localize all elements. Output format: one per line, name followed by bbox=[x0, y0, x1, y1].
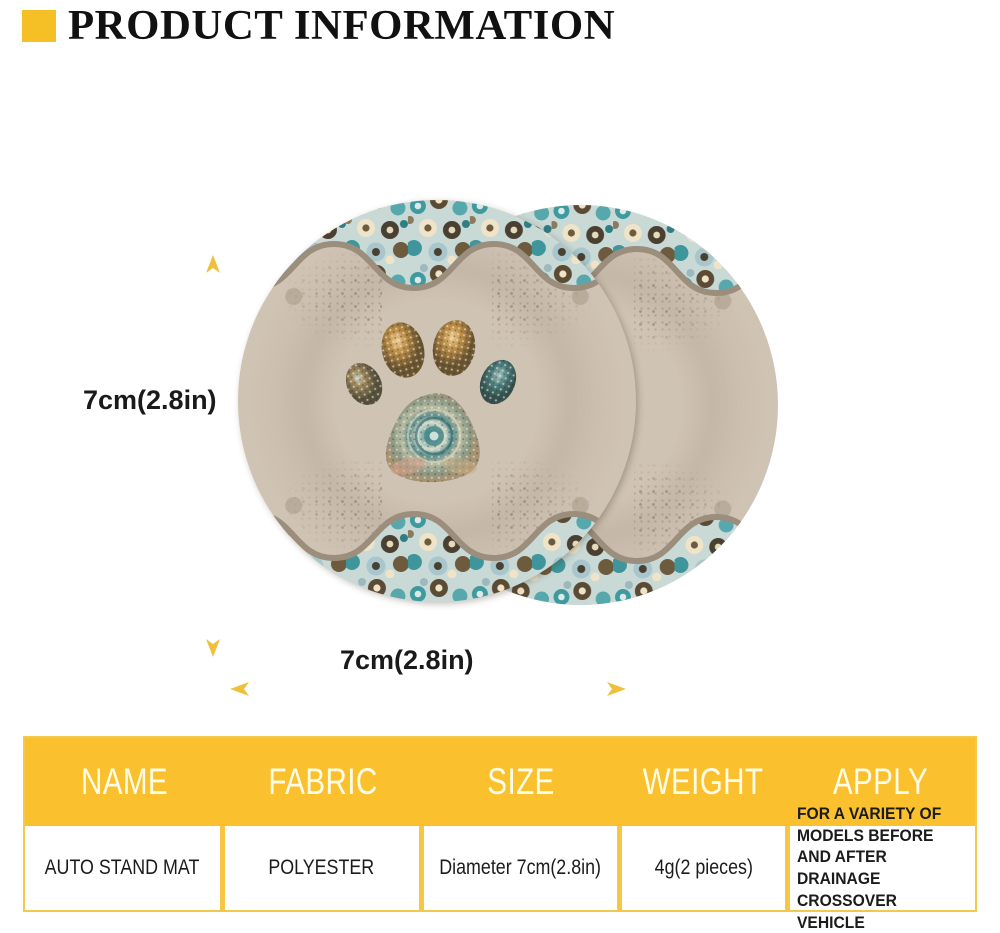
column-header-apply: APPLY bbox=[805, 761, 956, 803]
title-bullet-icon bbox=[22, 10, 56, 42]
height-dimension-label: 7cm(2.8in) bbox=[83, 385, 217, 416]
width-dimension-label: 7cm(2.8in) bbox=[340, 645, 474, 676]
column-header-fabric: FABRIC bbox=[244, 761, 402, 803]
column-header-size: SIZE bbox=[442, 761, 600, 803]
column-header-weight: WEIGHT bbox=[637, 761, 770, 803]
width-dimension-arrow bbox=[230, 677, 626, 701]
spec-table-body-row: AUTO STAND MAT POLYESTER Diameter 7cm(2.… bbox=[25, 826, 975, 910]
ornament-band-top bbox=[238, 200, 636, 298]
cell-apply-text: FOR A VARIETY OF MODELS BEFORE AND AFTER… bbox=[797, 803, 961, 933]
page-title: PRODUCT INFORMATION bbox=[68, 5, 615, 47]
cell-name: AUTO STAND MAT bbox=[25, 826, 220, 910]
cell-apply: FOR A VARIETY OF MODELS BEFORE AND AFTER… bbox=[790, 826, 975, 910]
height-dimension-arrow bbox=[205, 255, 221, 657]
cell-weight: 4g(2 pieces) bbox=[622, 826, 785, 910]
cell-fabric: POLYESTER bbox=[225, 826, 419, 910]
page-header: PRODUCT INFORMATION bbox=[0, 0, 1000, 52]
cell-fabric-text: POLYESTER bbox=[269, 855, 375, 881]
cell-name-text: AUTO STAND MAT bbox=[45, 855, 200, 881]
cell-size-text: Diameter 7cm(2.8in) bbox=[440, 855, 602, 881]
coaster-front bbox=[238, 200, 636, 602]
column-header-name: NAME bbox=[45, 761, 204, 803]
ornament-band-bottom bbox=[238, 504, 636, 602]
cell-size: Diameter 7cm(2.8in) bbox=[424, 826, 618, 910]
product-illustration: 7cm(2.8in) 7cm(2.8in) bbox=[0, 55, 1000, 730]
paw-print-graphic-front bbox=[346, 308, 536, 488]
spec-table: NAME FABRIC SIZE WEIGHT APPLY AUTO STAND… bbox=[23, 736, 977, 912]
cell-weight-text: 4g(2 pieces) bbox=[654, 855, 752, 881]
